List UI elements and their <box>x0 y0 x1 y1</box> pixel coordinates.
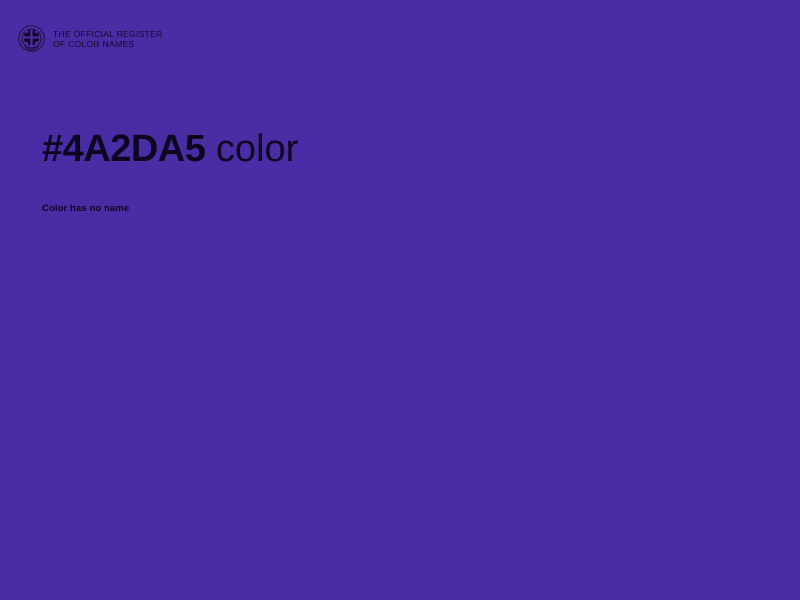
color-hex-code: #4A2DA5 <box>42 128 205 170</box>
color-name-status: Color has no name <box>42 172 758 215</box>
color-title-suffix: color <box>205 128 298 170</box>
page-title: #4A2DA5 color <box>42 126 758 172</box>
brand-header[interactable]: THE OFFICIAL REGISTER OF COLOR NAMES <box>18 25 163 52</box>
brand-line-one: THE OFFICIAL REGISTER <box>53 29 163 39</box>
main-content: #4A2DA5 color Color has no name <box>42 126 758 215</box>
register-seal-icon <box>18 25 45 52</box>
color-page: THE OFFICIAL REGISTER OF COLOR NAMES #4A… <box>0 0 800 600</box>
brand-line-two: OF COLOR NAMES <box>53 39 163 49</box>
brand-name: THE OFFICIAL REGISTER OF COLOR NAMES <box>53 28 163 49</box>
